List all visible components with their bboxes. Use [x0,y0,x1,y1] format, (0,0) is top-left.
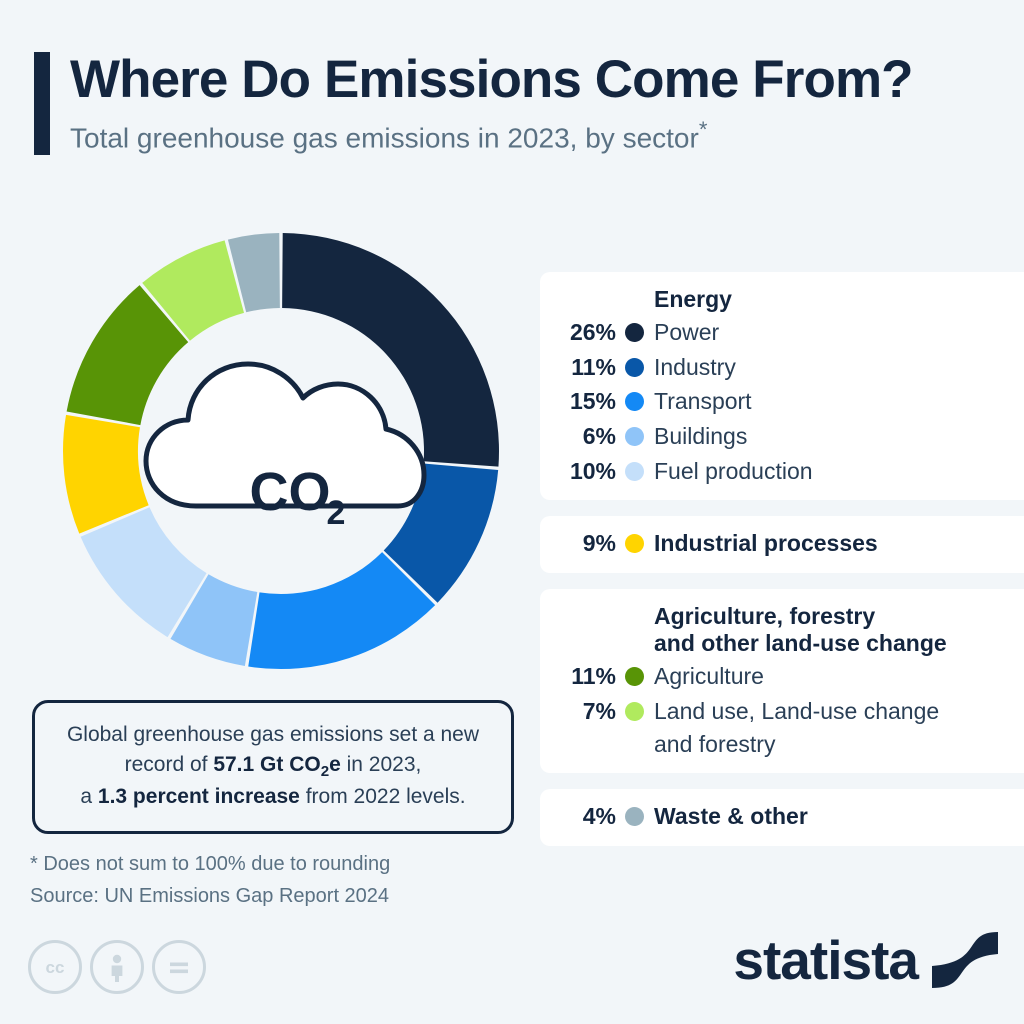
title-accent-bar [34,52,50,155]
legend-label: Industry [654,351,736,384]
legend-row[interactable]: 6%Buildings [540,419,1024,454]
legend-color-dot-icon [625,667,644,686]
legend-color-dot-icon [625,807,644,826]
page-title: Where Do Emissions Come From? [70,52,913,108]
donut-slice-power[interactable]: Power 26% [282,233,499,467]
legend-row[interactable]: 9%Industrial processes [540,526,1024,561]
attribution-person-icon [90,940,144,994]
legend-label: Industrial processes [654,527,878,560]
legend-percent: 9% [540,527,616,560]
footer-notes: * Does not sum to 100% due to rounding S… [30,848,390,913]
callout-figure: 57.1 Gt CO [213,753,320,776]
legend-group-title: Energy [654,286,1024,313]
legend-label: Agriculture [654,660,764,693]
legend-label: Buildings [654,420,747,453]
legend-row[interactable]: 10%Fuel production [540,454,1024,489]
legend-group-title: Agriculture, forestryand other land-use … [654,603,1024,657]
callout-figure-suffix: e [329,753,341,776]
legend-color-dot-icon [625,358,644,377]
legend-label: Waste & other [654,800,808,833]
subtitle-footnote-marker: * [699,117,708,142]
legend-card-2: Agriculture, forestryand other land-use … [540,589,1024,773]
legend-row[interactable]: 15%Transport [540,384,1024,419]
legend-percent: 6% [540,420,616,453]
callout-figure-subscript: 2 [321,763,329,780]
legend-percent: 4% [540,800,616,833]
legend-percent: 11% [540,660,616,693]
legend-label: Fuel production [654,455,813,488]
statista-logo: statista [733,932,998,988]
legend-color-dot-icon [625,427,644,446]
statista-mark-icon [932,932,998,988]
legend-row[interactable]: 11%Industry [540,350,1024,385]
statista-wordmark: statista [733,933,918,988]
legend-row[interactable]: 11%Agriculture [540,659,1024,694]
legend-label: Land use, Land-use changeand forestry [654,695,939,760]
legend-card-3: 4%Waste & other [540,789,1024,846]
callout-line-2-suffix: in 2023, [341,753,422,776]
rounding-footnote: * Does not sum to 100% due to rounding [30,848,390,880]
svg-text:cc: cc [46,958,65,977]
legend-percent: 26% [540,316,616,349]
callout-line-1: Global greenhouse gas emissions set a ne… [67,723,479,746]
legend-percent: 7% [540,695,616,728]
cc-icon: cc [28,940,82,994]
legend-percent: 11% [540,351,616,384]
donut-chart-svg: Power 26%Industry 11%Transport 15%Buildi… [46,216,516,686]
page-subtitle: Total greenhouse gas emissions in 2023, … [70,117,913,155]
no-derivatives-equals-icon [152,940,206,994]
legend-row[interactable]: 7%Land use, Land-use changeand forestry [540,694,1024,761]
donut-slice-group: Power 26%Industry 11%Transport 15%Buildi… [63,233,499,669]
donut-chart: Power 26%Industry 11%Transport 15%Buildi… [46,216,516,686]
equals-glyph [162,950,196,984]
callout-line-3-prefix: a [80,785,98,808]
callout-line-3-suffix: from 2022 levels. [300,785,466,808]
legend-color-dot-icon [625,462,644,481]
legend-row[interactable]: 4%Waste & other [540,799,1024,834]
creative-commons-badges: cc [28,940,206,994]
cc-glyph: cc [35,947,75,987]
legend-row[interactable]: 26%Power [540,315,1024,350]
legend-label: Power [654,316,719,349]
legend: Energy26%Power11%Industry15%Transport6%B… [540,272,1024,862]
legend-label: Transport [654,385,752,418]
legend-card-1: 9%Industrial processes [540,516,1024,573]
source-note: Source: UN Emissions Gap Report 2024 [30,880,390,912]
header: Where Do Emissions Come From? Total gree… [0,0,1024,155]
legend-percent: 10% [540,455,616,488]
legend-color-dot-icon [625,702,644,721]
legend-color-dot-icon [625,534,644,553]
legend-color-dot-icon [625,392,644,411]
legend-card-0: Energy26%Power11%Industry15%Transport6%B… [540,272,1024,500]
person-glyph [100,950,134,984]
legend-percent: 15% [540,385,616,418]
subtitle-text: Total greenhouse gas emissions in 2023, … [70,123,699,154]
legend-color-dot-icon [625,323,644,342]
callout-line-2-prefix: record of [125,753,214,776]
callout-box: Global greenhouse gas emissions set a ne… [32,700,514,834]
callout-increase: 1.3 percent increase [98,785,300,808]
